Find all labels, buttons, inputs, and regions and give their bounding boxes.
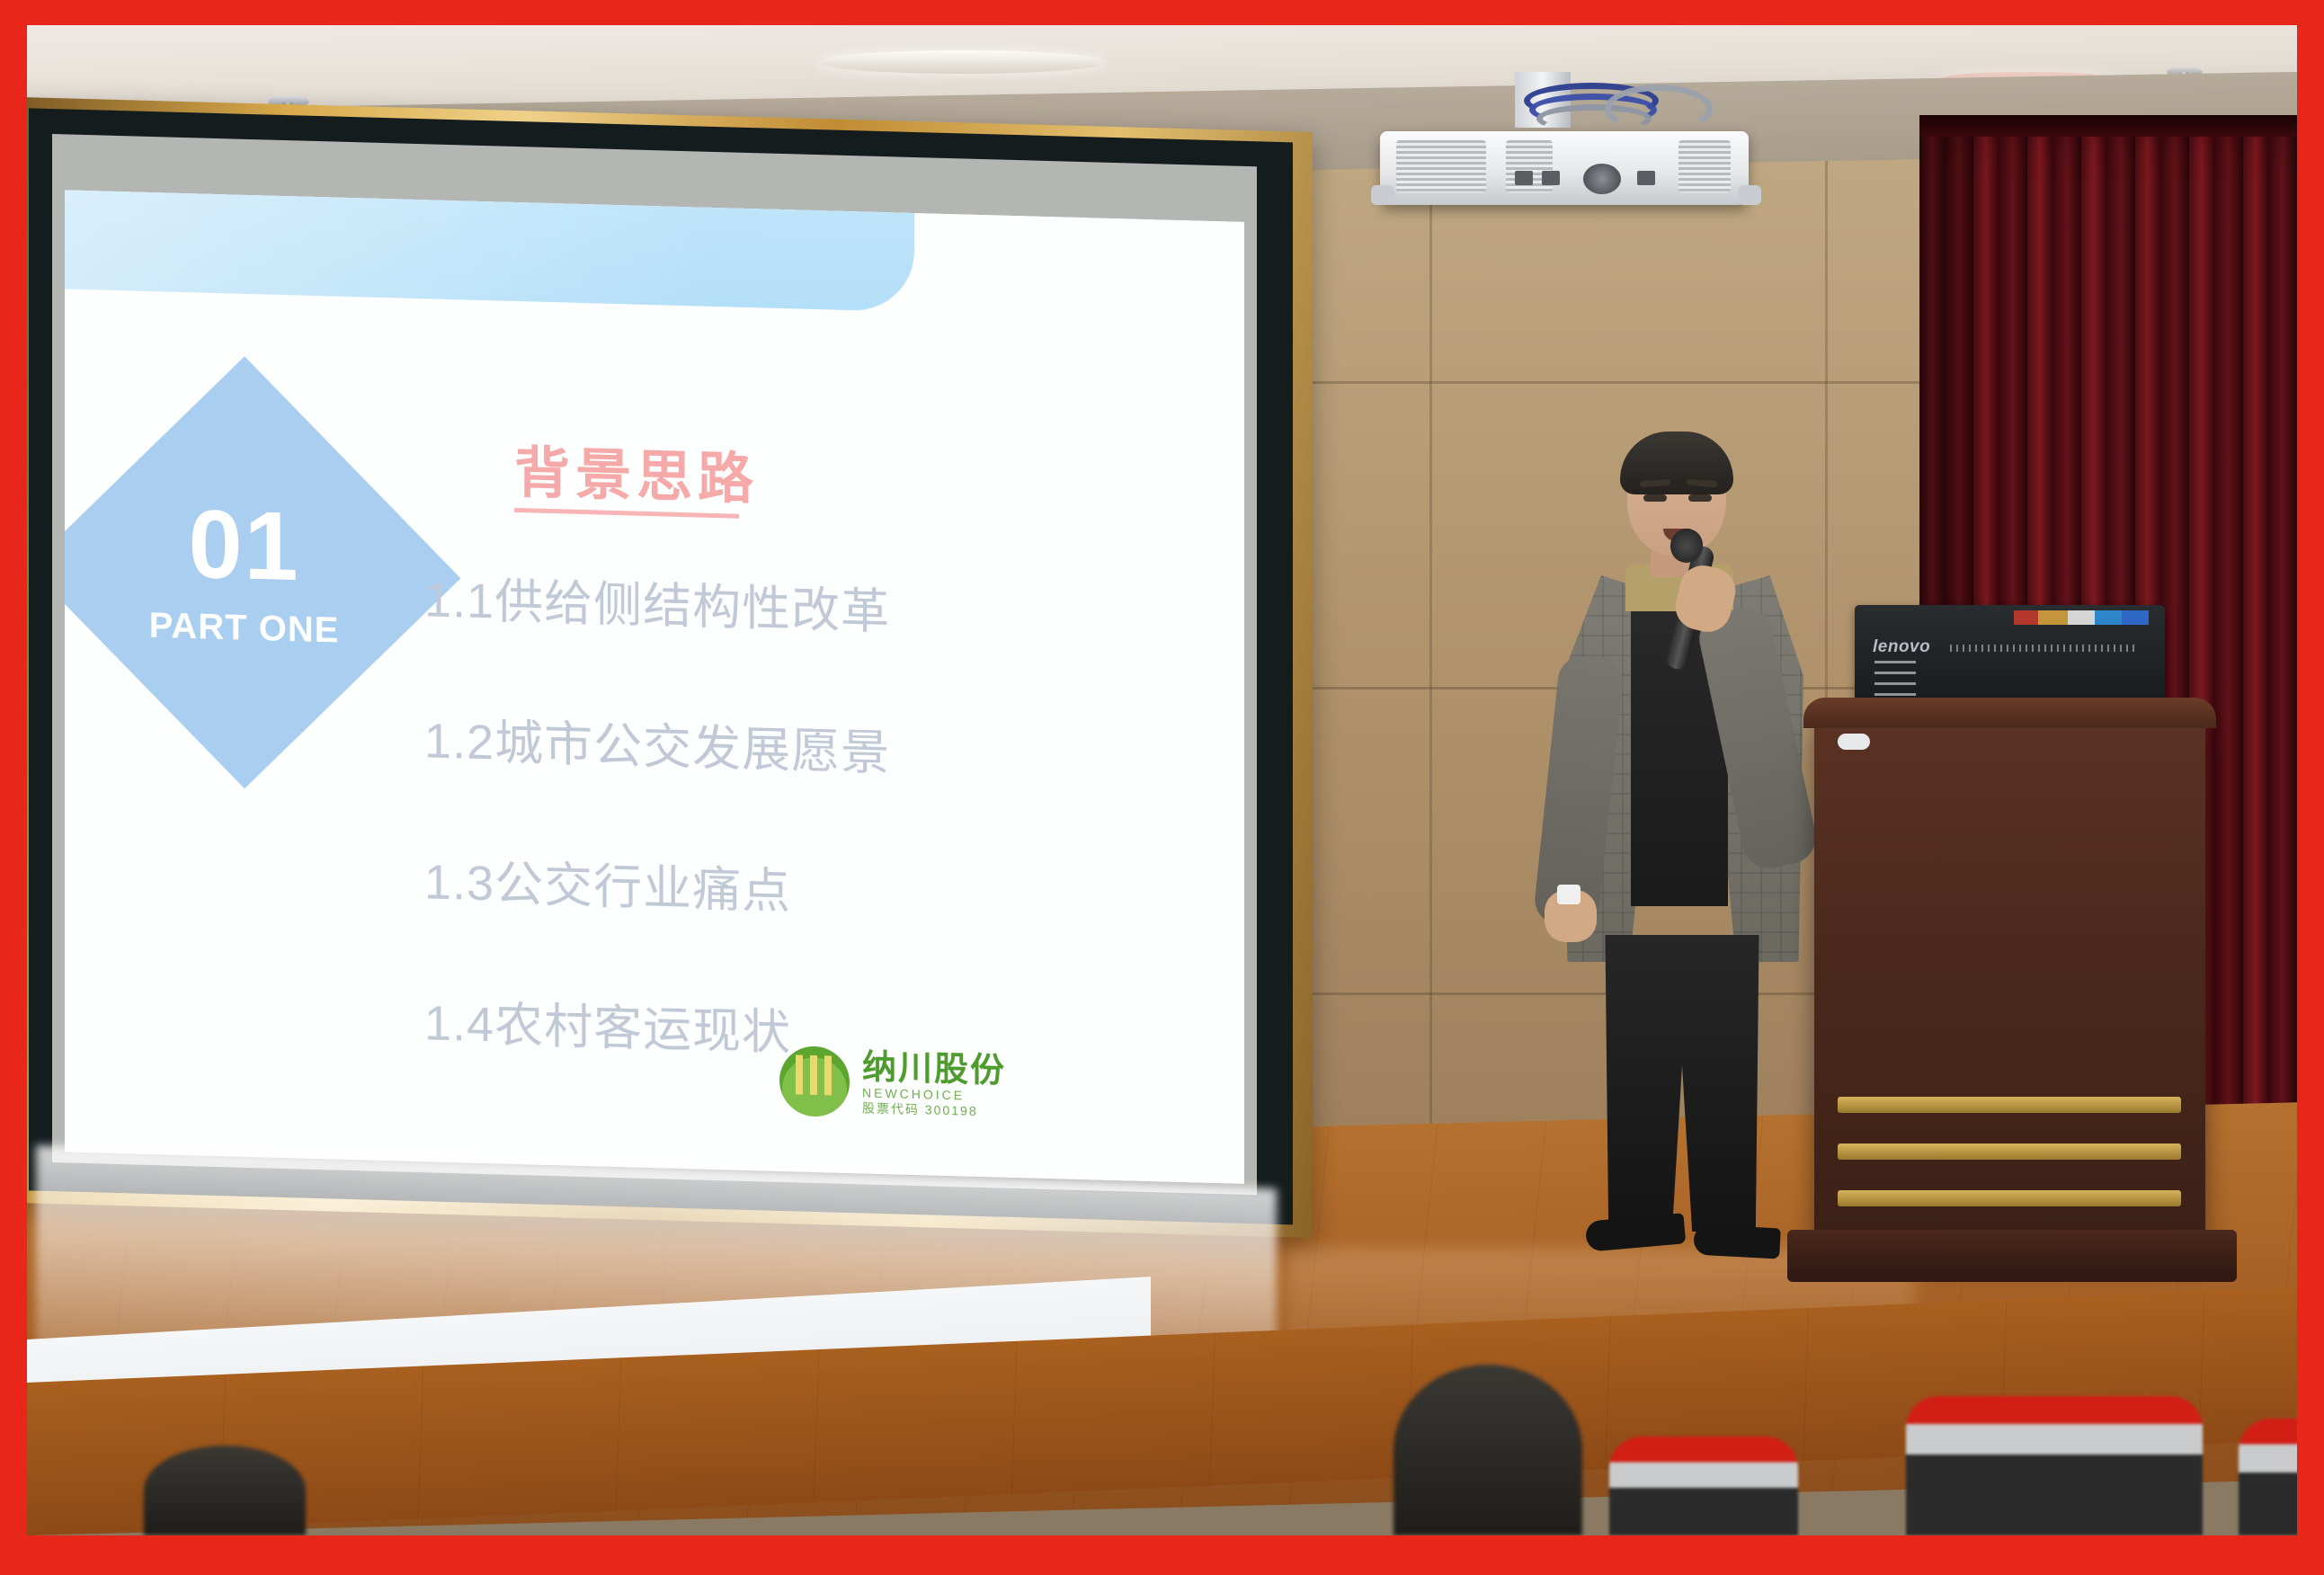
speaker-trousers <box>1598 935 1766 1232</box>
company-logo: 纳川股份 NEWCHOICE 股票代码 300198 <box>779 1046 1006 1122</box>
projector-knob-icon <box>1371 185 1394 205</box>
speaker-person <box>1545 432 1814 1277</box>
monitor-onscreen-menu <box>2014 610 2149 625</box>
ceiling-light-icon <box>818 50 1106 74</box>
screen-surface: 01 PART ONE 背景思路 1.1供给侧结构性改革 1.2城市公交发展愿景… <box>52 134 1257 1195</box>
photograph: 01 PART ONE 背景思路 1.1供给侧结构性改革 1.2城市公交发展愿景… <box>27 25 2297 1535</box>
screen-inner-border: 01 PART ONE 背景思路 1.1供给侧结构性改革 1.2城市公交发展愿景… <box>29 108 1293 1224</box>
audience-seat <box>1609 1437 1798 1535</box>
speaker-shoe <box>1693 1224 1781 1259</box>
speaker-shoe <box>1585 1213 1687 1251</box>
lectern-badge <box>1838 734 1870 750</box>
lectern-gold-strip <box>1838 1190 2181 1206</box>
projected-image: 01 PART ONE 背景思路 1.1供给侧结构性改革 1.2城市公交发展愿景… <box>65 190 1244 1184</box>
company-name-cn: 纳川股份 <box>862 1051 1006 1090</box>
audience-seat <box>1906 1396 2203 1535</box>
section-number: 01 <box>149 494 340 596</box>
lectern-gold-strip <box>1838 1143 2181 1160</box>
screenshot-root: 01 PART ONE 背景思路 1.1供给侧结构性改革 1.2城市公交发展愿景… <box>0 0 2324 1575</box>
audience-head <box>144 1446 306 1535</box>
projector-lens-icon <box>1583 164 1621 194</box>
lectern-base <box>1787 1230 2237 1282</box>
curtain-rail <box>1919 115 2297 137</box>
list-item: 1.3公交行业痛点 <box>424 841 890 925</box>
speaker-eye <box>1643 494 1667 502</box>
projector-port-icon <box>1542 171 1560 185</box>
lectern-gold-strip <box>1838 1097 2181 1113</box>
section-diamond: 01 PART ONE <box>65 356 460 788</box>
section-label: PART ONE <box>149 605 340 651</box>
slide-header-band <box>65 190 914 312</box>
monitor-vent-icon <box>1950 645 2139 652</box>
slide-title: 背景思路 <box>514 427 759 514</box>
speaker-eye <box>1688 494 1712 502</box>
stock-code: 股票代码 300198 <box>862 1101 1006 1118</box>
lectern <box>1814 708 2205 1248</box>
wall-seam <box>1429 111 1432 1172</box>
projection-screen-frame: 01 PART ONE 背景思路 1.1供给侧结构性改革 1.2城市公交发展愿景… <box>27 97 1313 1238</box>
projector-vent-icon <box>1396 140 1486 192</box>
projector-body <box>1380 131 1749 205</box>
projector-port-icon <box>1637 171 1655 185</box>
audience-head <box>1394 1365 1582 1535</box>
presenter-clicker-icon <box>1557 885 1580 904</box>
projector-port-icon <box>1515 171 1533 185</box>
company-logo-text: 纳川股份 NEWCHOICE 股票代码 300198 <box>862 1051 1006 1119</box>
lectern-top <box>1803 698 2216 728</box>
list-item: 1.2城市公交发展愿景 <box>424 700 890 784</box>
projector-knob-icon <box>1738 185 1761 205</box>
audience-seat <box>2239 1419 2297 1535</box>
list-item: 1.1供给侧结构性改革 <box>424 559 890 643</box>
projector-vent-icon <box>1678 140 1731 192</box>
section-diamond-content: 01 PART ONE <box>149 494 340 651</box>
presentation-slide: 01 PART ONE 背景思路 1.1供给侧结构性改革 1.2城市公交发展愿景… <box>65 190 1244 1184</box>
monitor-brand-label: lenovo <box>1873 637 1930 657</box>
ceiling-projector <box>1380 72 1758 216</box>
cable-icon <box>1605 85 1713 133</box>
company-logo-icon <box>779 1046 850 1117</box>
